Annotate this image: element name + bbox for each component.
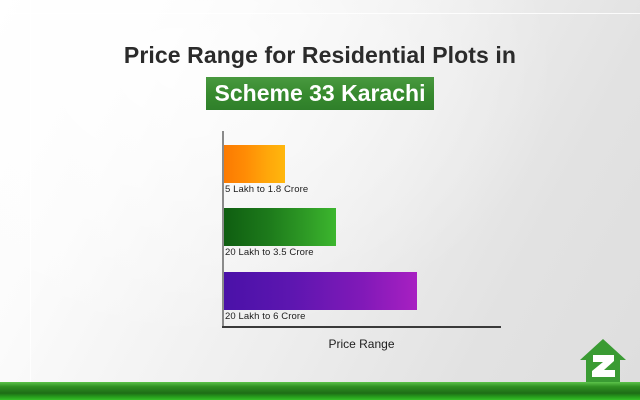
bar-value-label-120: 5 Lakh to 1.8 Crore [225, 184, 308, 195]
bar-600-sq-yd[interactable] [224, 272, 417, 310]
x-axis-line [222, 326, 501, 328]
bar-chart: 120 sq yd 5 Lakh to 1.8 Crore 240 sq yd … [0, 0, 640, 400]
bar-value-label-240: 20 Lakh to 3.5 Crore [225, 247, 314, 258]
footer-accent-bar [0, 382, 640, 400]
bar-value-label-600: 20 Lakh to 6 Crore [225, 311, 306, 322]
x-axis-title: Price Range [222, 337, 501, 351]
zameen-logo[interactable] [578, 336, 628, 386]
slide-canvas: Price Range for Residential Plots in Sch… [0, 0, 640, 400]
bar-120-sq-yd[interactable] [224, 145, 285, 183]
bar-240-sq-yd[interactable] [224, 208, 336, 246]
house-z-icon [580, 339, 626, 384]
